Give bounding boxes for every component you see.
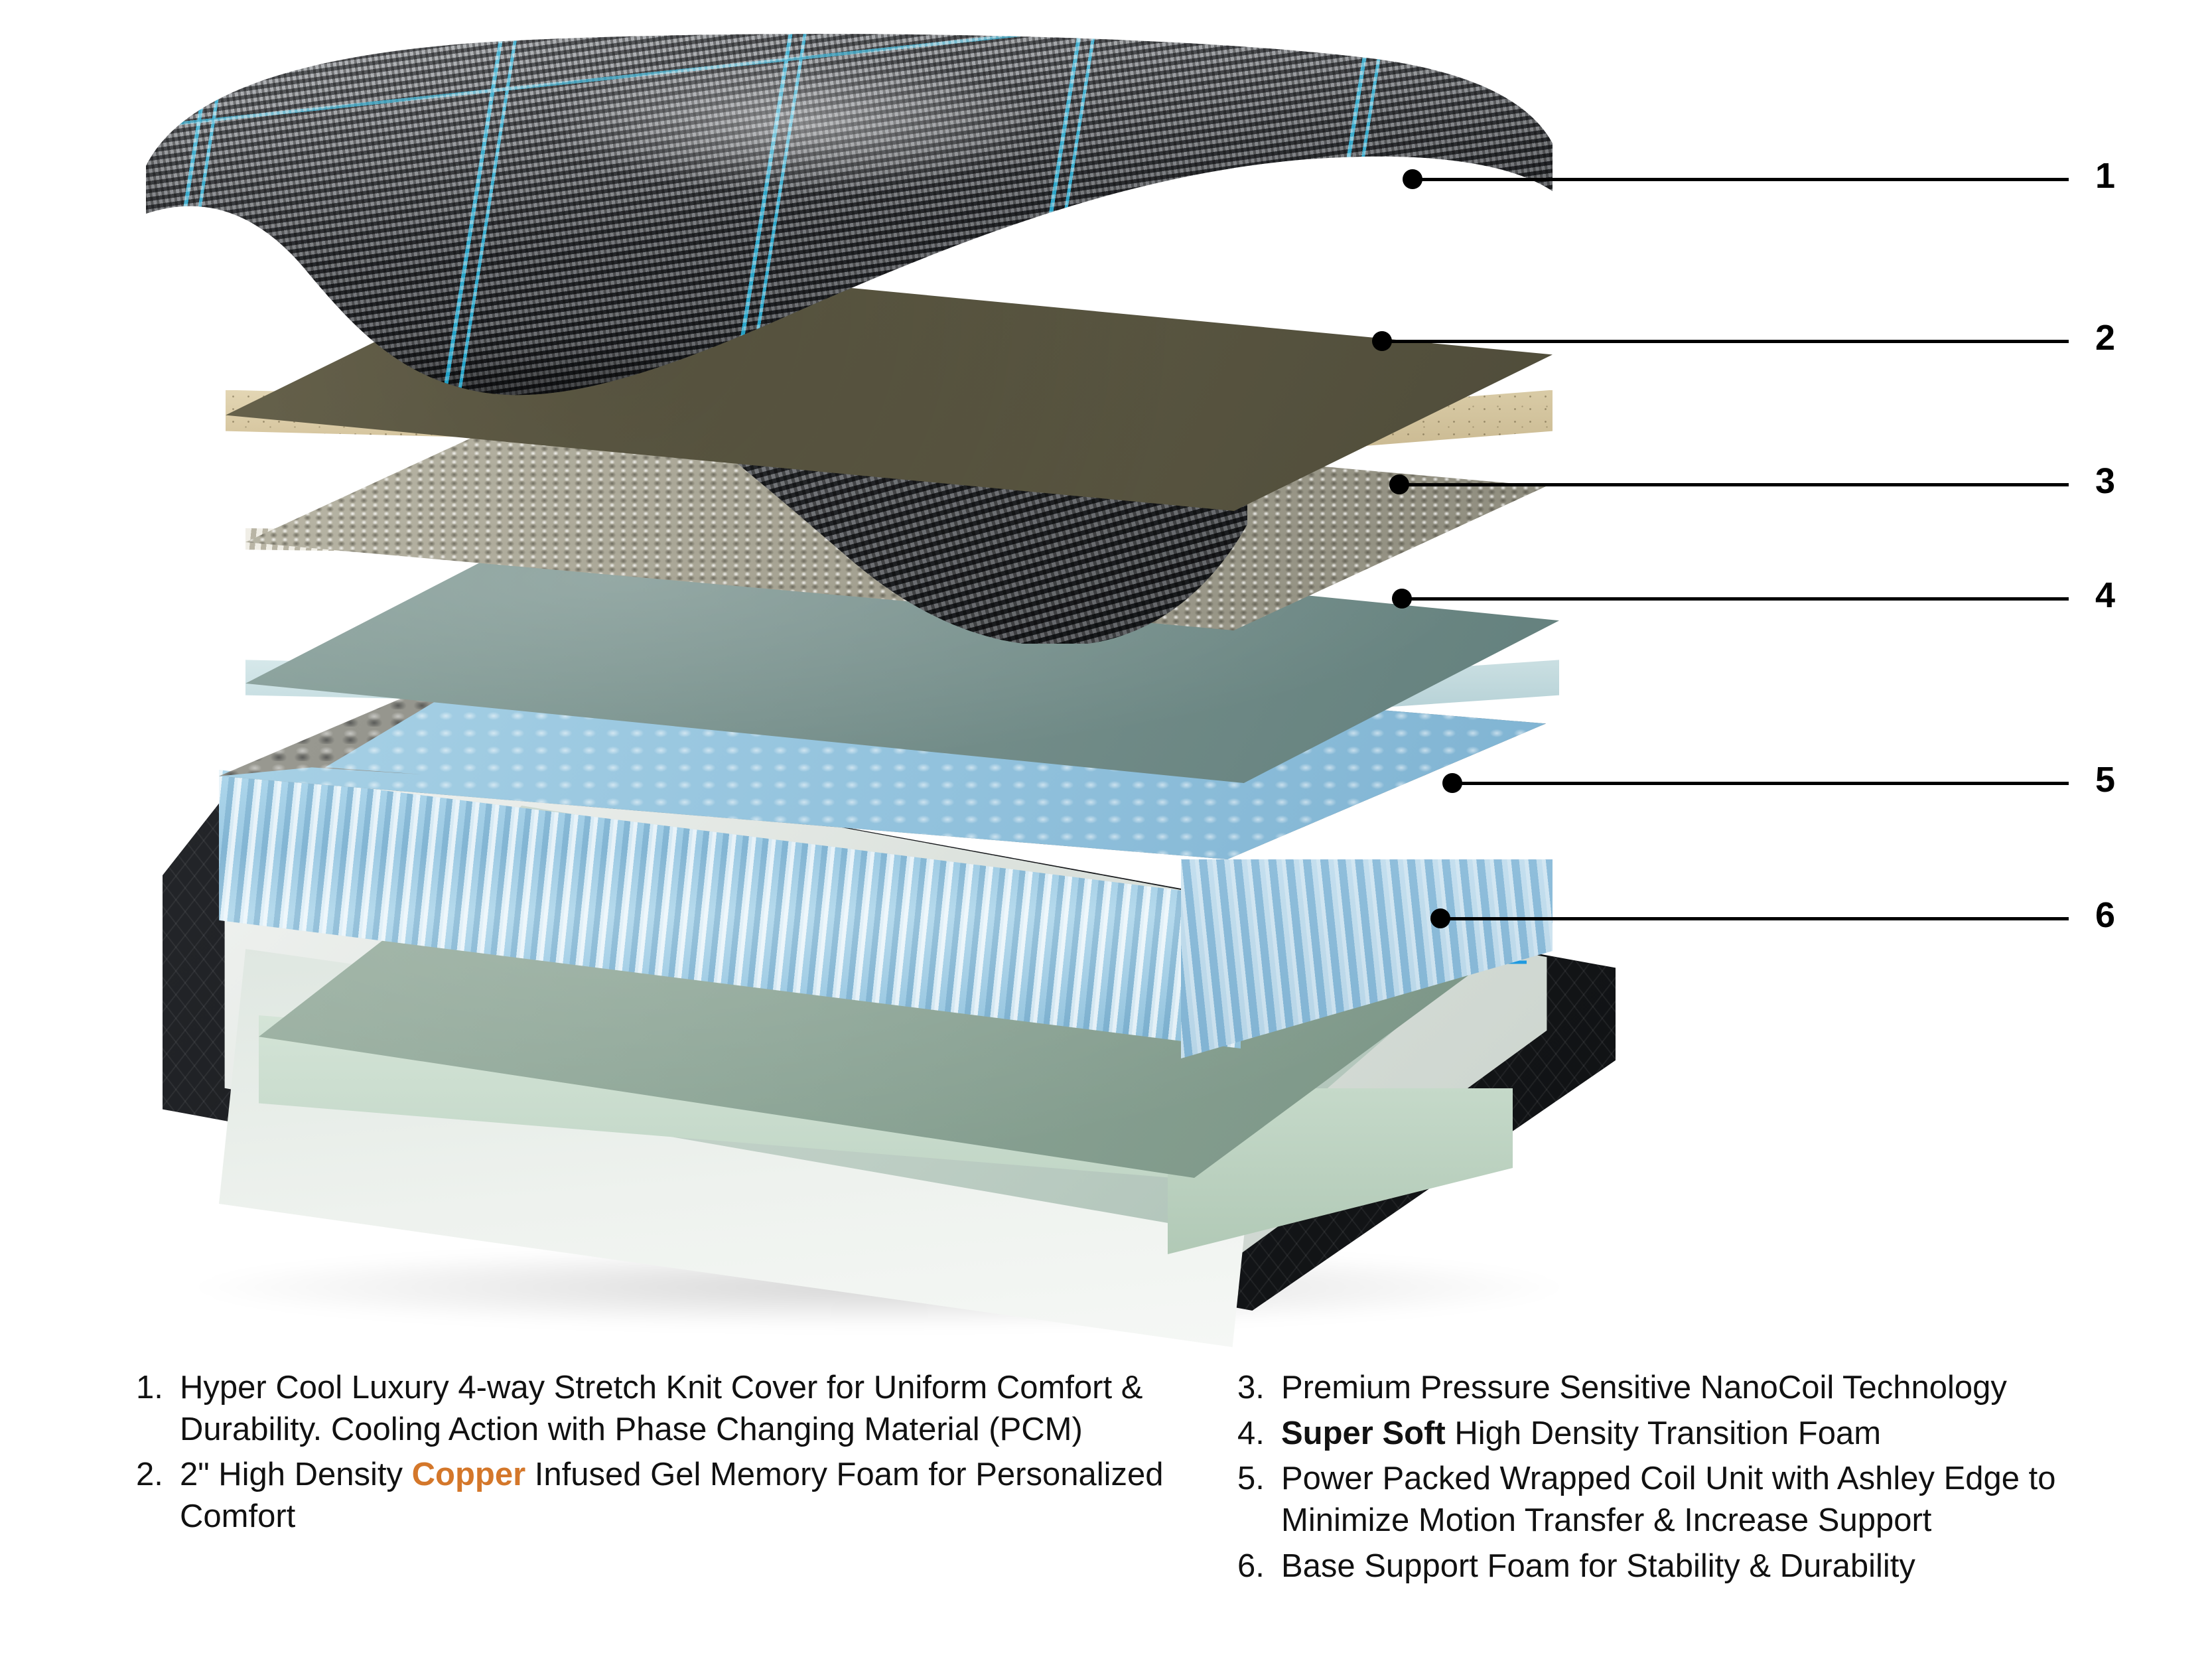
legend-item-number: 6. [1237, 1546, 1281, 1587]
legend-item-number: 2. [136, 1454, 180, 1496]
legend-item-text: Power Packed Wrapped Coil Unit with Ashl… [1281, 1458, 2166, 1541]
callout-5-line [1452, 782, 2069, 785]
callout-6-line [1440, 917, 2069, 920]
legend-text-run: Base Support Foam for Stability & Durabi… [1281, 1548, 1915, 1584]
callout-5-number: 5 [2095, 762, 2115, 798]
legend-item: 2.2" High Density Copper Infused Gel Mem… [136, 1454, 1171, 1537]
callout-2-dot [1372, 331, 1392, 351]
legend-column-right: 3.Premium Pressure Sensitive NanoCoil Te… [1237, 1367, 2166, 1591]
callout-4-line [1401, 597, 2069, 601]
legend-item: 6.Base Support Foam for Stability & Dura… [1237, 1546, 2166, 1587]
callout-3-number: 3 [2095, 463, 2115, 499]
callout-1-dot [1403, 169, 1422, 189]
legend-text-run: 2" High Density [180, 1457, 412, 1492]
callout-6-dot [1430, 908, 1450, 928]
legend-text-run: Hyper Cool Luxury 4-way Stretch Knit Cov… [180, 1370, 1142, 1447]
callout-4-dot [1392, 589, 1412, 609]
legend-text-run: Premium Pressure Sensitive NanoCoil Tech… [1281, 1370, 2007, 1406]
legend-item-number: 3. [1237, 1367, 1281, 1409]
legend-item-number: 5. [1237, 1458, 1281, 1500]
legend-item-number: 4. [1237, 1413, 1281, 1455]
legend-text-run: High Density Transition Foam [1446, 1415, 1881, 1451]
callout-3-line [1399, 483, 2069, 486]
legend-item-text: Premium Pressure Sensitive NanoCoil Tech… [1281, 1367, 2166, 1409]
callout-2-number: 2 [2095, 320, 2115, 356]
cover-specular-highlight [133, 27, 1579, 398]
callout-2-line [1381, 340, 2069, 343]
legend-text-run: Power Packed Wrapped Coil Unit with Ashl… [1281, 1461, 2056, 1538]
callout-6-number: 6 [2095, 897, 2115, 933]
exploded-mattress-illustration: 1 2 3 4 5 6 [0, 0, 2212, 1327]
legend-item-text: Hyper Cool Luxury 4-way Stretch Knit Cov… [180, 1367, 1171, 1450]
legend-item-text: Super Soft High Density Transition Foam [1281, 1413, 2166, 1455]
callout-3-dot [1389, 474, 1409, 494]
callout-1-number: 1 [2095, 158, 2115, 194]
legend: 1.Hyper Cool Luxury 4-way Stretch Knit C… [0, 1367, 2212, 1659]
callout-1-line [1412, 178, 2069, 181]
coil-right-wall [1181, 859, 1553, 1058]
legend-item-text: Base Support Foam for Stability & Durabi… [1281, 1546, 2166, 1587]
legend-item: 4.Super Soft High Density Transition Foa… [1237, 1413, 2166, 1455]
legend-item: 5.Power Packed Wrapped Coil Unit with As… [1237, 1458, 2166, 1541]
legend-column-left: 1.Hyper Cool Luxury 4-way Stretch Knit C… [136, 1367, 1171, 1542]
legend-item-text: 2" High Density Copper Infused Gel Memor… [180, 1454, 1171, 1537]
legend-item-number: 1. [136, 1367, 180, 1409]
legend-text-run: Copper [412, 1457, 526, 1492]
legend-text-run: Super Soft [1281, 1415, 1446, 1451]
legend-item: 3.Premium Pressure Sensitive NanoCoil Te… [1237, 1367, 2166, 1409]
legend-item: 1.Hyper Cool Luxury 4-way Stretch Knit C… [136, 1367, 1171, 1450]
callout-4-number: 4 [2095, 577, 2115, 613]
layer-1-knit-cover [133, 27, 1579, 398]
mattress-layer-diagram-page: 1 2 3 4 5 6 1.Hyper Cool [0, 0, 2212, 1659]
callout-5-dot [1442, 773, 1462, 793]
